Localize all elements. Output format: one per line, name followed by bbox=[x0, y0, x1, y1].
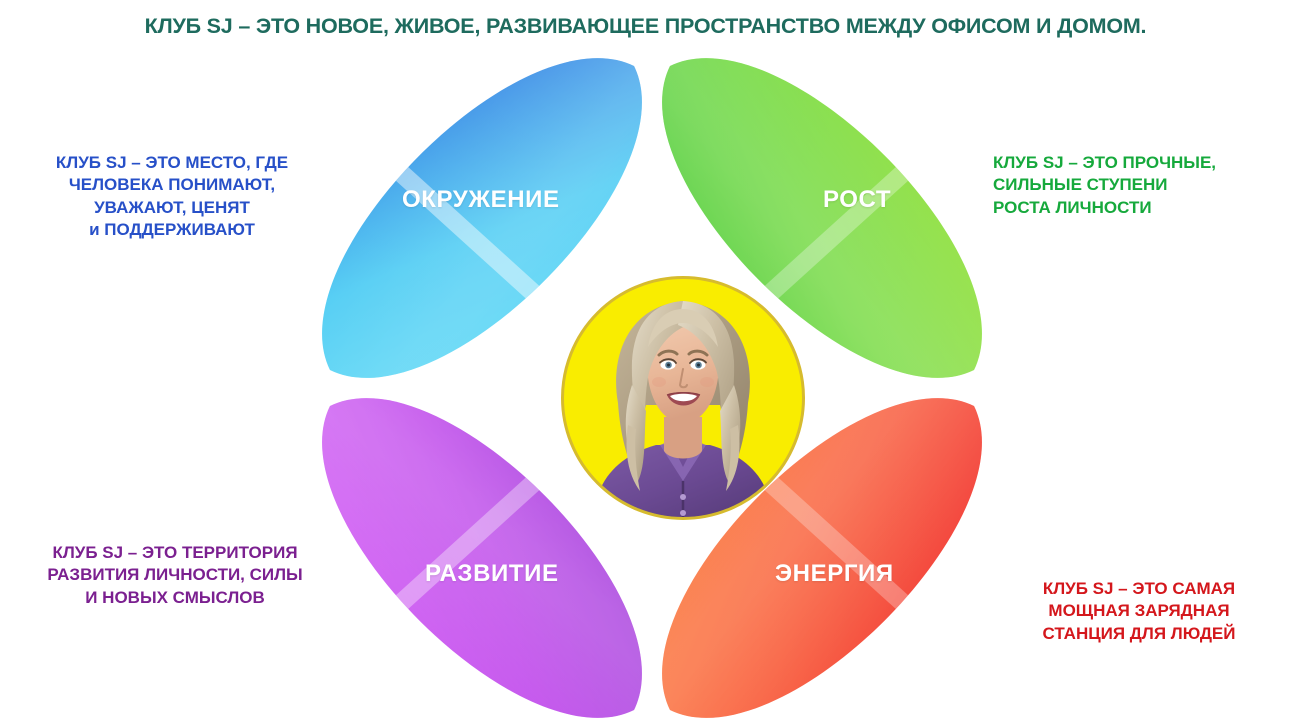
caption-development: КЛУБ SJ – ЭТО ТЕРРИТОРИЯ РАЗВИТИЯ ЛИЧНОС… bbox=[20, 542, 330, 609]
center-circle[interactable] bbox=[561, 276, 805, 520]
caption-environment: КЛУБ SJ – ЭТО МЕСТО, ГДЕ ЧЕЛОВЕКА ПОНИМА… bbox=[22, 152, 322, 242]
caption-energy: КЛУБ SJ – ЭТО САМАЯ МОЩНАЯ ЗАРЯДНАЯ СТАН… bbox=[1000, 578, 1278, 645]
page-title: КЛУБ SJ – ЭТО НОВОЕ, ЖИВОЕ, РАЗВИВАЮЩЕЕ … bbox=[0, 14, 1291, 39]
caption-growth: КЛУБ SJ – ЭТО ПРОЧНЫЕ, СИЛЬНЫЕ СТУПЕНИ Р… bbox=[993, 152, 1278, 219]
portrait-photo bbox=[588, 285, 778, 517]
